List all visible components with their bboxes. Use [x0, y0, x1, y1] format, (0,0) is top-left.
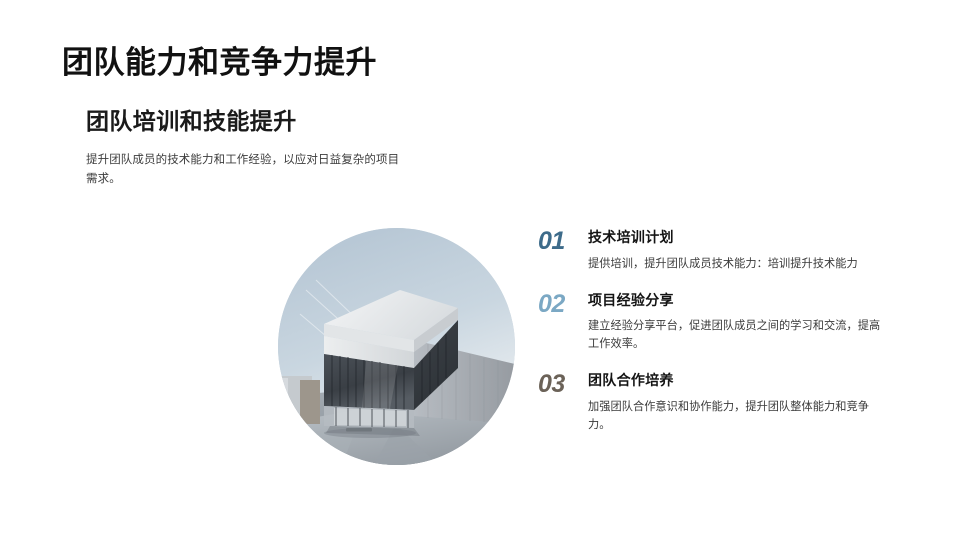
section-description: 提升团队成员的技术能力和工作经验，以应对日益复杂的项目需求。	[86, 151, 404, 189]
feature-title: 团队合作培养	[588, 372, 888, 390]
section-heading: 团队培训和技能提升	[86, 107, 297, 136]
feature-body: 技术培训计划 提供培训，提升团队成员技术能力：培训提升技术能力	[588, 228, 888, 273]
feature-list: 01 技术培训计划 提供培训，提升团队成员技术能力：培训提升技术能力 02 项目…	[538, 228, 888, 452]
feature-description: 建立经验分享平台，促进团队成员之间的学习和交流，提高工作效率。	[588, 317, 888, 353]
architecture-photo-graphic	[278, 228, 515, 465]
page-title: 团队能力和竞争力提升	[62, 44, 377, 81]
feature-number: 01	[538, 228, 588, 254]
list-item[interactable]: 03 团队合作培养 加强团队合作意识和协作能力，提升团队整体能力和竞争力。	[538, 371, 888, 434]
feature-body: 团队合作培养 加强团队合作意识和协作能力，提升团队整体能力和竞争力。	[588, 371, 888, 434]
list-item[interactable]: 02 项目经验分享 建立经验分享平台，促进团队成员之间的学习和交流，提高工作效率…	[538, 291, 888, 354]
feature-title: 项目经验分享	[588, 292, 888, 310]
architecture-photo	[278, 228, 515, 465]
list-item[interactable]: 01 技术培训计划 提供培训，提升团队成员技术能力：培训提升技术能力	[538, 228, 888, 273]
feature-body: 项目经验分享 建立经验分享平台，促进团队成员之间的学习和交流，提高工作效率。	[588, 291, 888, 354]
feature-title: 技术培训计划	[588, 229, 888, 247]
slide-canvas: 团队能力和竞争力提升 团队培训和技能提升 提升团队成员的技术能力和工作经验，以应…	[0, 0, 960, 548]
feature-description: 提供培训，提升团队成员技术能力：培训提升技术能力	[588, 255, 888, 273]
feature-description: 加强团队合作意识和协作能力，提升团队整体能力和竞争力。	[588, 398, 888, 434]
feature-number: 02	[538, 291, 588, 317]
feature-number: 03	[538, 371, 588, 397]
